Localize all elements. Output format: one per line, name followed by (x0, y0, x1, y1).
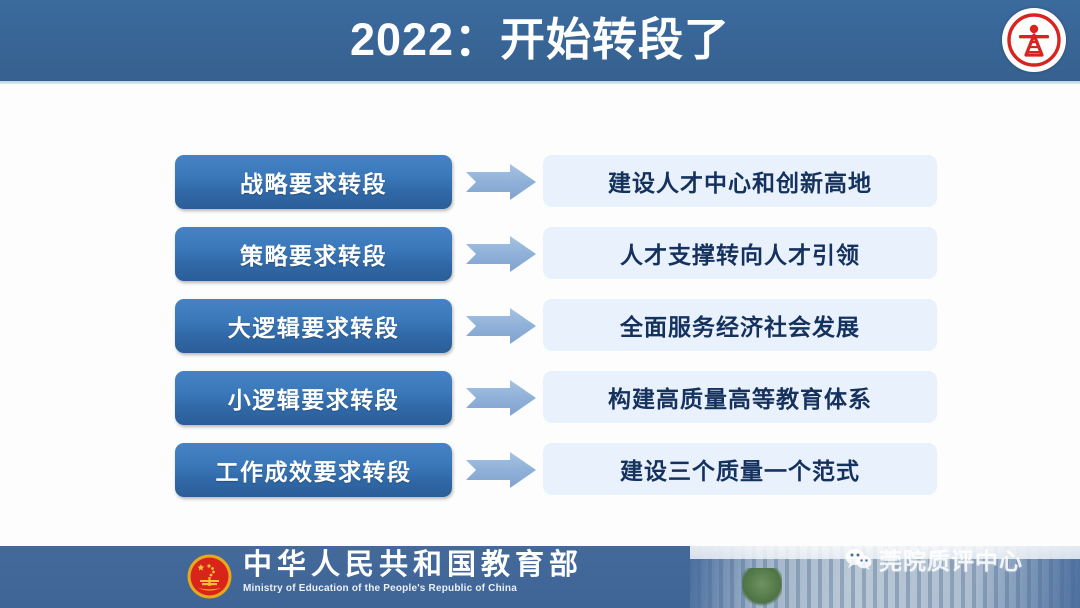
requirement-box[interactable]: 工作成效要求转段 (175, 443, 452, 497)
ministry-wordmark: 中华人民共和国教育部 Ministry of Education of the … (243, 549, 543, 596)
slide-canvas: 2022：开始转段了 战略要求转段 (0, 0, 1080, 608)
requirement-label: 工作成效要求转段 (216, 453, 412, 487)
transition-row: 大逻辑要求转段 全面服务经济社会发展 (0, 299, 1080, 353)
transition-row: 工作成效要求转段 建设三个质量一个范式 (0, 443, 1080, 497)
outcome-box[interactable]: 人才支撑转向人才引领 (543, 227, 937, 279)
arrow-right-icon (466, 308, 536, 344)
arrow-right-icon (466, 380, 536, 416)
outcome-box[interactable]: 全面服务经济社会发展 (543, 299, 937, 351)
arrow-right-icon (466, 236, 536, 272)
requirement-box[interactable]: 策略要求转段 (175, 227, 452, 281)
watermark-label: 莞院质评中心 (879, 542, 1023, 576)
requirement-label: 大逻辑要求转段 (228, 309, 400, 343)
requirement-label: 小逻辑要求转段 (228, 381, 400, 415)
requirement-label: 策略要求转段 (240, 237, 387, 271)
watermark: 莞院质评中心 (845, 542, 1023, 576)
outcome-label: 全面服务经济社会发展 (620, 308, 860, 342)
campus-photo-tree (742, 568, 782, 608)
arrow-right-icon (466, 164, 536, 200)
national-emblem-icon (186, 553, 233, 600)
outcome-label: 建设人才中心和创新高地 (608, 164, 872, 198)
outcome-label: 构建高质量高等教育体系 (608, 380, 872, 414)
ministry-name-en: Ministry of Education of the People's Re… (243, 582, 543, 596)
outcome-label: 建设三个质量一个范式 (620, 452, 860, 486)
outcome-box[interactable]: 建设三个质量一个范式 (543, 443, 937, 495)
transition-row: 策略要求转段 人才支撑转向人才引领 (0, 227, 1080, 281)
outcome-box[interactable]: 建设人才中心和创新高地 (543, 155, 937, 207)
outcome-box[interactable]: 构建高质量高等教育体系 (543, 371, 937, 423)
requirement-box[interactable]: 战略要求转段 (175, 155, 452, 209)
arrow-right-icon (466, 452, 536, 488)
ministry-name-cn: 中华人民共和国教育部 (243, 549, 543, 582)
requirement-label: 战略要求转段 (240, 165, 387, 199)
transition-row: 战略要求转段 建设人才中心和创新高地 (0, 155, 1080, 209)
institution-logo-icon (1002, 8, 1066, 72)
requirement-box[interactable]: 大逻辑要求转段 (175, 299, 452, 353)
page-title: 2022：开始转段了 (0, 6, 1080, 74)
content-rows: 战略要求转段 建设人才中心和创新高地 策略要求转段 (0, 84, 1080, 545)
requirement-box[interactable]: 小逻辑要求转段 (175, 371, 452, 425)
outcome-label: 人才支撑转向人才引领 (620, 236, 860, 270)
wechat-icon (845, 548, 872, 570)
transition-row: 小逻辑要求转段 构建高质量高等教育体系 (0, 371, 1080, 425)
